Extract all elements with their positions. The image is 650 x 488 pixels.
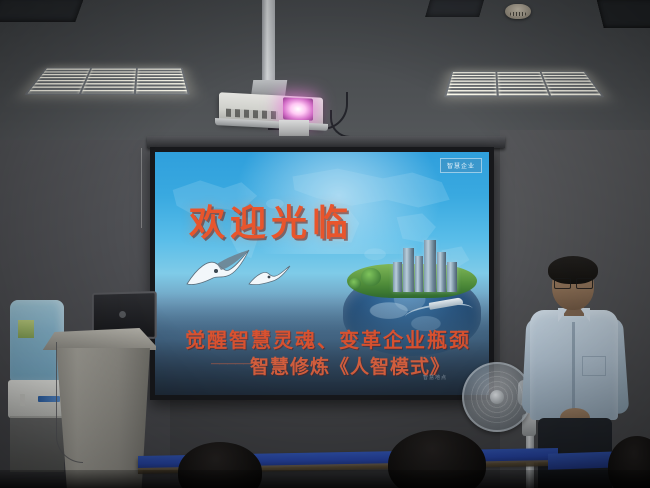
bottle-label [18, 320, 34, 338]
ceiling-light-right [444, 71, 605, 97]
ceiling-light-left [24, 68, 190, 95]
screen-roller-housing [279, 120, 309, 137]
fan-hub [490, 390, 504, 404]
projector-mount-pole [262, 0, 275, 88]
podium-cable [56, 342, 83, 463]
projector-lens-glow-icon [283, 97, 313, 121]
presenter-shirt-pocket [582, 356, 606, 376]
slide-badge: 智慧企业 [440, 158, 482, 173]
ceiling-vent-center-icon [425, 0, 485, 17]
presenter-collar [556, 308, 592, 324]
smoke-detector-icon [505, 4, 531, 19]
seagull-small-icon [247, 264, 291, 290]
laptop-logo-icon [119, 311, 126, 318]
ceiling-vent-left-icon [0, 0, 85, 22]
slide-canvas: 智慧企业 [155, 152, 489, 395]
projection-screen: 智慧企业 [150, 147, 494, 400]
screen-pull-cord[interactable] [141, 148, 142, 228]
dispenser-tap[interactable] [20, 394, 25, 406]
tree-small-icon [349, 278, 361, 289]
glasses-icon [554, 278, 593, 287]
ceiling-vent-right-icon [596, 0, 650, 28]
slide-title: 欢迎光临 [189, 194, 353, 246]
foreground-shadow [0, 470, 650, 488]
lecture-room-photo: 智慧企业 [0, 0, 650, 488]
seagull-large-icon [183, 248, 253, 292]
slide-watermark: 智慧地点 [423, 374, 447, 381]
city-skyline-graphic [389, 238, 463, 292]
presenter-shirt-placket [572, 322, 575, 418]
slide-subtitle-line-1: 觉醒智慧灵魂、变革企业瓶颈 [169, 324, 487, 353]
tree-icon [361, 268, 381, 286]
